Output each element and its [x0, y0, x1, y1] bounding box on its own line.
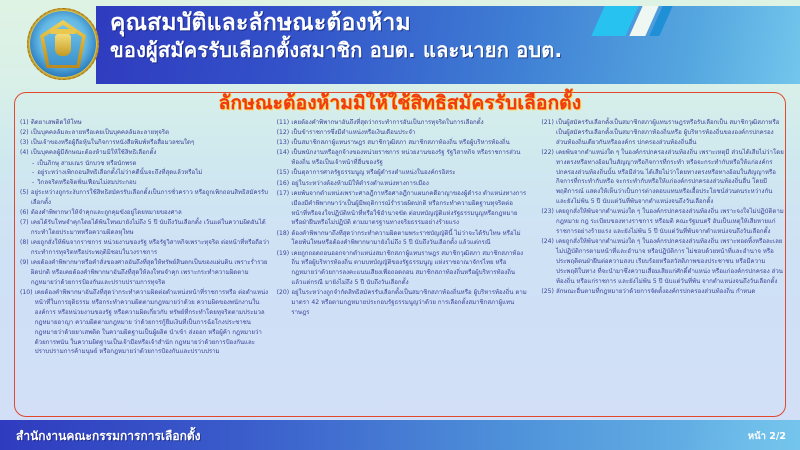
list-item-number: (16) — [277, 179, 292, 189]
list-item: (2)เป็นบุคคลล้มละลายหรือเคยเป็นบุคคลล้มล… — [20, 128, 271, 138]
list-item-number: (12) — [277, 128, 292, 138]
list-item: (19)เคยถูกถอดถอนออกจากตำแหน่งสมาชิกสภาผู… — [277, 249, 528, 288]
list-item-text: เคยต้องคำพิพากษาอันถึงที่สุดว่ากระทำความ… — [35, 288, 271, 357]
list-item-number: (17) — [277, 189, 292, 228]
page-footer: สำนักงานคณะกรรมการการเลือกตั้ง หน้า 2/2 — [0, 420, 800, 450]
list-item-number: (4) — [20, 148, 31, 158]
list-item: (13)เป็นสมาชิกสภาผู้แทนราษฎร สมาชิกวุฒิส… — [277, 138, 528, 148]
list-item-text: เคยถูกถอดถอนออกจากตำแหน่งสมาชิกสภาผู้แทน… — [291, 249, 527, 288]
list-item-number: (7) — [20, 218, 31, 238]
list-item-number: (6) — [20, 208, 31, 218]
list-item-text: เคยต้องคำพิพากษาอันถึงที่สุดว่ากระทำการอ… — [291, 118, 527, 128]
list-item: (11)เคยต้องคำพิพากษาอันถึงที่สุดว่ากระทำ… — [277, 118, 528, 128]
list-item-text: เป็นบุคคลผู้มีลักษณะต้องห้ามมิให้ใช้สิทธ… — [31, 148, 271, 158]
list-item-text: เคยพ้นจากตำแหน่งใด ๆ ในองค์กรปกครองส่วนท… — [556, 148, 784, 207]
list-item: (8)เคยถูกสั่งให้พ้นจากราชการ หน่วยงานของ… — [20, 238, 271, 258]
list-item-number: (9) — [20, 258, 31, 288]
list-item-text: เป็นบุคคลล้มละลายหรือเคยเป็นบุคคลล้มละลา… — [31, 128, 271, 138]
list-item-number: (5) — [20, 188, 31, 208]
list-item: (4)เป็นบุคคลผู้มีลักษณะต้องห้ามมิให้ใช้ส… — [20, 148, 271, 158]
content-columns: (1)ติดยาเสพติดให้โทษ(2)เป็นบุคคลล้มละลาย… — [20, 118, 784, 416]
list-item-text: อยู่ระหว่างถูกระงับการใช้สิทธิสมัครรับเล… — [31, 188, 271, 208]
list-item-text: เคยถูกสั่งให้พ้นจากราชการ หน่วยงานของรัฐ… — [31, 238, 271, 258]
list-item: (20)อยู่ในระหว่างถูกจำกัดสิทธิสมัครรับเล… — [277, 288, 528, 318]
list-item-text: เป็นตุลาการศาลรัฐธรรมนูญ หรือผู้ดำรงตำแห… — [291, 168, 527, 178]
list-item: (1)ติดยาเสพติดให้โทษ — [20, 118, 271, 128]
list-item: (3)เป็นเจ้าของหรือผู้ถือหุ้นในกิจการหนัง… — [20, 138, 271, 148]
list-item-number: (14) — [277, 148, 292, 168]
page-title: คุณสมบัติและลักษณะต้องห้าม ของผู้สมัครรั… — [110, 9, 790, 62]
list-item: (21)เป็นผู้สมัครรับเลือกตั้งเป็นสมาชิกสภ… — [541, 118, 784, 148]
page-title-line-1: คุณสมบัติและลักษณะต้องห้าม — [110, 9, 790, 38]
list-item-text: ต้องคำพิพากษาให้จำคุกและถูกคุมขังอยู่โดย… — [31, 208, 271, 218]
list-item-number: (23) — [541, 207, 556, 237]
list-item: (10)เคยต้องคำพิพากษาอันถึงที่สุดว่ากระทำ… — [20, 288, 271, 357]
list-item: (5)อยู่ระหว่างถูกระงับการใช้สิทธิสมัครรั… — [20, 188, 271, 208]
column-1: (1)ติดยาเสพติดให้โทษ(2)เป็นบุคคลล้มละลาย… — [20, 118, 271, 416]
list-item-text: เคยได้รับโทษจำคุกโดยได้พ้นโทษมายังไม่ถึง… — [31, 218, 271, 238]
list-item: (17)เคยพ้นจากตำแหน่งเพราะศาลฎีกาหรือศาลฎ… — [277, 189, 528, 228]
list-item: (18)ต้องคำพิพากษาถึงที่สุดว่ากระทำความผิ… — [277, 229, 528, 249]
list-item-number: (2) — [20, 128, 31, 138]
list-sub-item: -อยู่ระหว่างเพิกถอนสิทธิเลือกตั้งไม่ว่าค… — [20, 168, 271, 178]
list-item-number: (22) — [541, 148, 556, 207]
list-item-number: (1) — [20, 118, 31, 128]
page-header: คุณสมบัติและลักษณะต้องห้าม ของผู้สมัครรั… — [0, 0, 800, 88]
footer-organization: สำนักงานคณะกรรมการการเลือกตั้ง — [16, 427, 200, 446]
list-sub-item: -เป็นภิกษุ สามเณร นักบวช หรือนักพรต — [20, 159, 271, 169]
page-title-line-2: ของผู้สมัครรับเลือกตั้งสมาชิก อบต. และนา… — [110, 38, 790, 63]
list-item: (15)เป็นตุลาการศาลรัฐธรรมนูญ หรือผู้ดำรง… — [277, 168, 528, 178]
list-item-text: อยู่ในระหว่างต้องห้ามมิให้ดำรงตำแหน่งทาง… — [291, 179, 527, 189]
list-item: (22)เคยพ้นจากตำแหน่งใด ๆ ในองค์กรปกครองส… — [541, 148, 784, 207]
list-item-number: (3) — [20, 138, 31, 148]
list-item-text: เคยต้องคำพิพากษาหรือคำสั่งของศาลอันถึงที… — [31, 258, 271, 288]
list-item-text: เป็นเจ้าของหรือผู้ถือหุ้นในกิจการหนังสือ… — [31, 138, 271, 148]
list-item: (24)เคยถูกสั่งให้พ้นจากตำแหน่งใด ๆ ในองค… — [541, 237, 784, 286]
list-item-number: (15) — [277, 168, 292, 178]
list-item-number: (18) — [277, 229, 292, 249]
column-2: (11)เคยต้องคำพิพากษาอันถึงที่สุดว่ากระทำ… — [277, 118, 528, 416]
ect-seal-logo — [27, 8, 99, 80]
list-item: (23)เคยถูกสั่งให้พ้นจากตำแหน่งใด ๆ ในองค… — [541, 207, 784, 237]
list-item-text: เคยถูกสั่งให้พ้นจากตำแหน่งใด ๆ ในองค์กรป… — [556, 237, 784, 286]
list-item: (16)อยู่ในระหว่างต้องห้ามมิให้ดำรงตำแหน่… — [277, 179, 528, 189]
list-item-text: เคยถูกสั่งให้พ้นจากตำแหน่งใด ๆ ในองค์กรป… — [556, 207, 784, 237]
list-sub-item: -วิกลจริตหรือจิตฟั่นเฟือนไม่สมประกอบ — [20, 178, 271, 188]
list-sub-item-text: วิกลจริตหรือจิตฟั่นเฟือนไม่สมประกอบ — [37, 178, 136, 188]
list-item-text: เป็นข้าราชการซึ่งมีตำแหน่งหรือเงินเดือนป… — [291, 128, 527, 138]
footer-page-number: หน้า 2/2 — [748, 429, 786, 444]
list-item-number: (25) — [541, 287, 556, 297]
list-item-number: (13) — [277, 138, 292, 148]
list-item: (14)เป็นพนักงานหรือลูกจ้างของหน่วยราชการ… — [277, 148, 528, 168]
list-item: (12)เป็นข้าราชการซึ่งมีตำแหน่งหรือเงินเด… — [277, 128, 528, 138]
column-3: (21)เป็นผู้สมัครรับเลือกตั้งเป็นสมาชิกสภ… — [533, 118, 784, 416]
list-item: (6)ต้องคำพิพากษาให้จำคุกและถูกคุมขังอยู่… — [20, 208, 271, 218]
list-item: (25)ลักษณะอื่นตามที่กฎหมายว่าด้วยการจัดต… — [541, 287, 784, 297]
list-item-text: ลักษณะอื่นตามที่กฎหมายว่าด้วยการจัดตั้งอ… — [556, 287, 784, 297]
list-item-text: เคยพ้นจากตำแหน่งเพราะศาลฎีกาหรือศาลฎีกาแ… — [291, 189, 527, 228]
list-item-text: ต้องคำพิพากษาถึงที่สุดว่ากระทำความผิดตาม… — [291, 229, 527, 249]
list-sub-item-text: อยู่ระหว่างเพิกถอนสิทธิเลือกตั้งไม่ว่าคด… — [37, 168, 202, 178]
list-item-text: อยู่ในระหว่างถูกจำกัดสิทธิสมัครรับเลือกต… — [291, 288, 527, 318]
logo-circular-text — [27, 8, 99, 80]
list-item-text: เป็นสมาชิกสภาผู้แทนราษฎร สมาชิกวุฒิสภา ส… — [291, 138, 527, 148]
list-item-text: เป็นพนักงานหรือลูกจ้างของหน่วยราชการ หน่… — [291, 148, 527, 168]
infographic-page: คุณสมบัติและลักษณะต้องห้าม ของผู้สมัครรั… — [0, 0, 800, 450]
list-item-number: (10) — [20, 288, 35, 357]
list-item: (7)เคยได้รับโทษจำคุกโดยได้พ้นโทษมายังไม่… — [20, 218, 271, 238]
list-item-number: (19) — [277, 249, 292, 288]
list-item-number: (24) — [541, 237, 556, 286]
list-item-text: ติดยาเสพติดให้โทษ — [31, 118, 271, 128]
list-item-number: (20) — [277, 288, 292, 318]
list-sub-item-text: เป็นภิกษุ สามเณร นักบวช หรือนักพรต — [37, 159, 136, 169]
list-item-number: (11) — [277, 118, 292, 128]
list-item-number: (8) — [20, 238, 31, 258]
list-item-number: (21) — [541, 118, 556, 148]
list-item: (9)เคยต้องคำพิพากษาหรือคำสั่งของศาลอันถึ… — [20, 258, 271, 288]
list-item-text: เป็นผู้สมัครรับเลือกตั้งเป็นสมาชิกสภาผู้… — [556, 118, 784, 148]
